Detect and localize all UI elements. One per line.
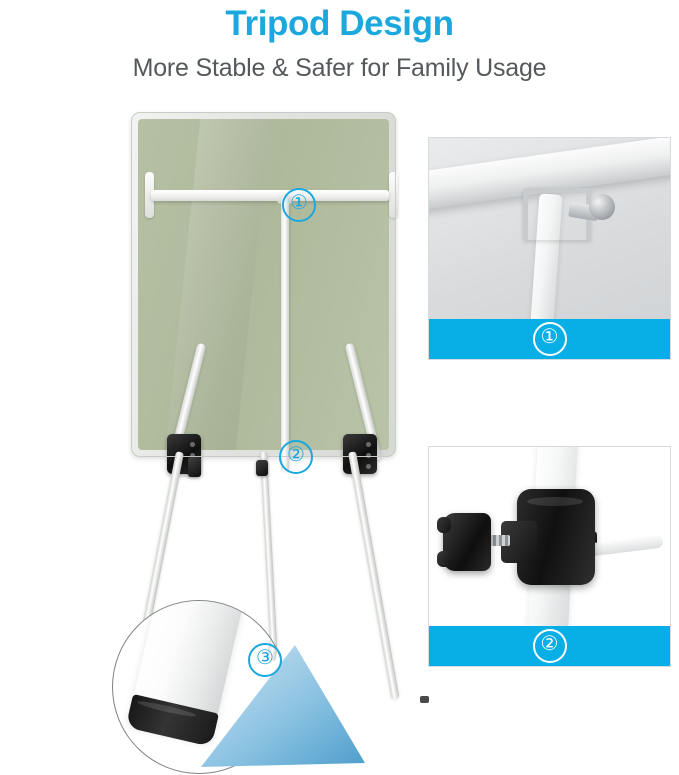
horizontal-crossbar: [151, 190, 389, 201]
detail-panel-bracket-thumbscrew: ①: [428, 137, 671, 360]
board-back-panel-green: [138, 119, 389, 450]
hinge-rivet-icon: [366, 464, 371, 469]
detail-panel-clamp-knob: ②: [428, 446, 671, 667]
hero-marker-3: ③: [248, 643, 282, 677]
crossbar-end-right: [389, 172, 398, 218]
support-strut-right: [345, 343, 383, 462]
hero-product-image: ① ② ③: [108, 100, 420, 700]
panel2-footer-marker: ②: [533, 629, 567, 663]
hinge-rivet-icon: [190, 442, 195, 447]
detail-photo-2: ②: [429, 447, 670, 666]
hero-marker-1: ①: [282, 188, 316, 222]
centre-vertical-tube: [281, 196, 289, 472]
blue-gradient-pointer-wedge: [193, 635, 373, 775]
hinge-rivet-icon: [366, 453, 371, 458]
leg-foot-right: [420, 696, 429, 703]
detail-photo-1: ①: [429, 138, 670, 359]
crossbar-end-left: [145, 172, 154, 218]
support-strut-left: [169, 343, 207, 462]
hero-marker-2: ②: [279, 440, 313, 474]
panel1-screw-head: [589, 194, 615, 220]
whiteboard-frame: [131, 112, 396, 457]
panel2-footer-bar: ②: [429, 626, 670, 666]
page-subtitle: More Stable & Safer for Family Usage: [0, 44, 679, 83]
leg-clamp-collar-centre: [256, 460, 268, 476]
panel2-thumb-knob: [443, 513, 491, 571]
panel1-footer-bar: ①: [429, 319, 670, 359]
panel1-footer-marker: ①: [533, 322, 567, 356]
leg-clamp-collar-left: [188, 457, 201, 477]
infographic-page: Tripod Design More Stable & Safer for Fa…: [0, 0, 679, 721]
page-title: Tripod Design: [0, 0, 679, 44]
hinge-rivet-icon: [366, 442, 371, 447]
header: Tripod Design More Stable & Safer for Fa…: [0, 0, 679, 96]
